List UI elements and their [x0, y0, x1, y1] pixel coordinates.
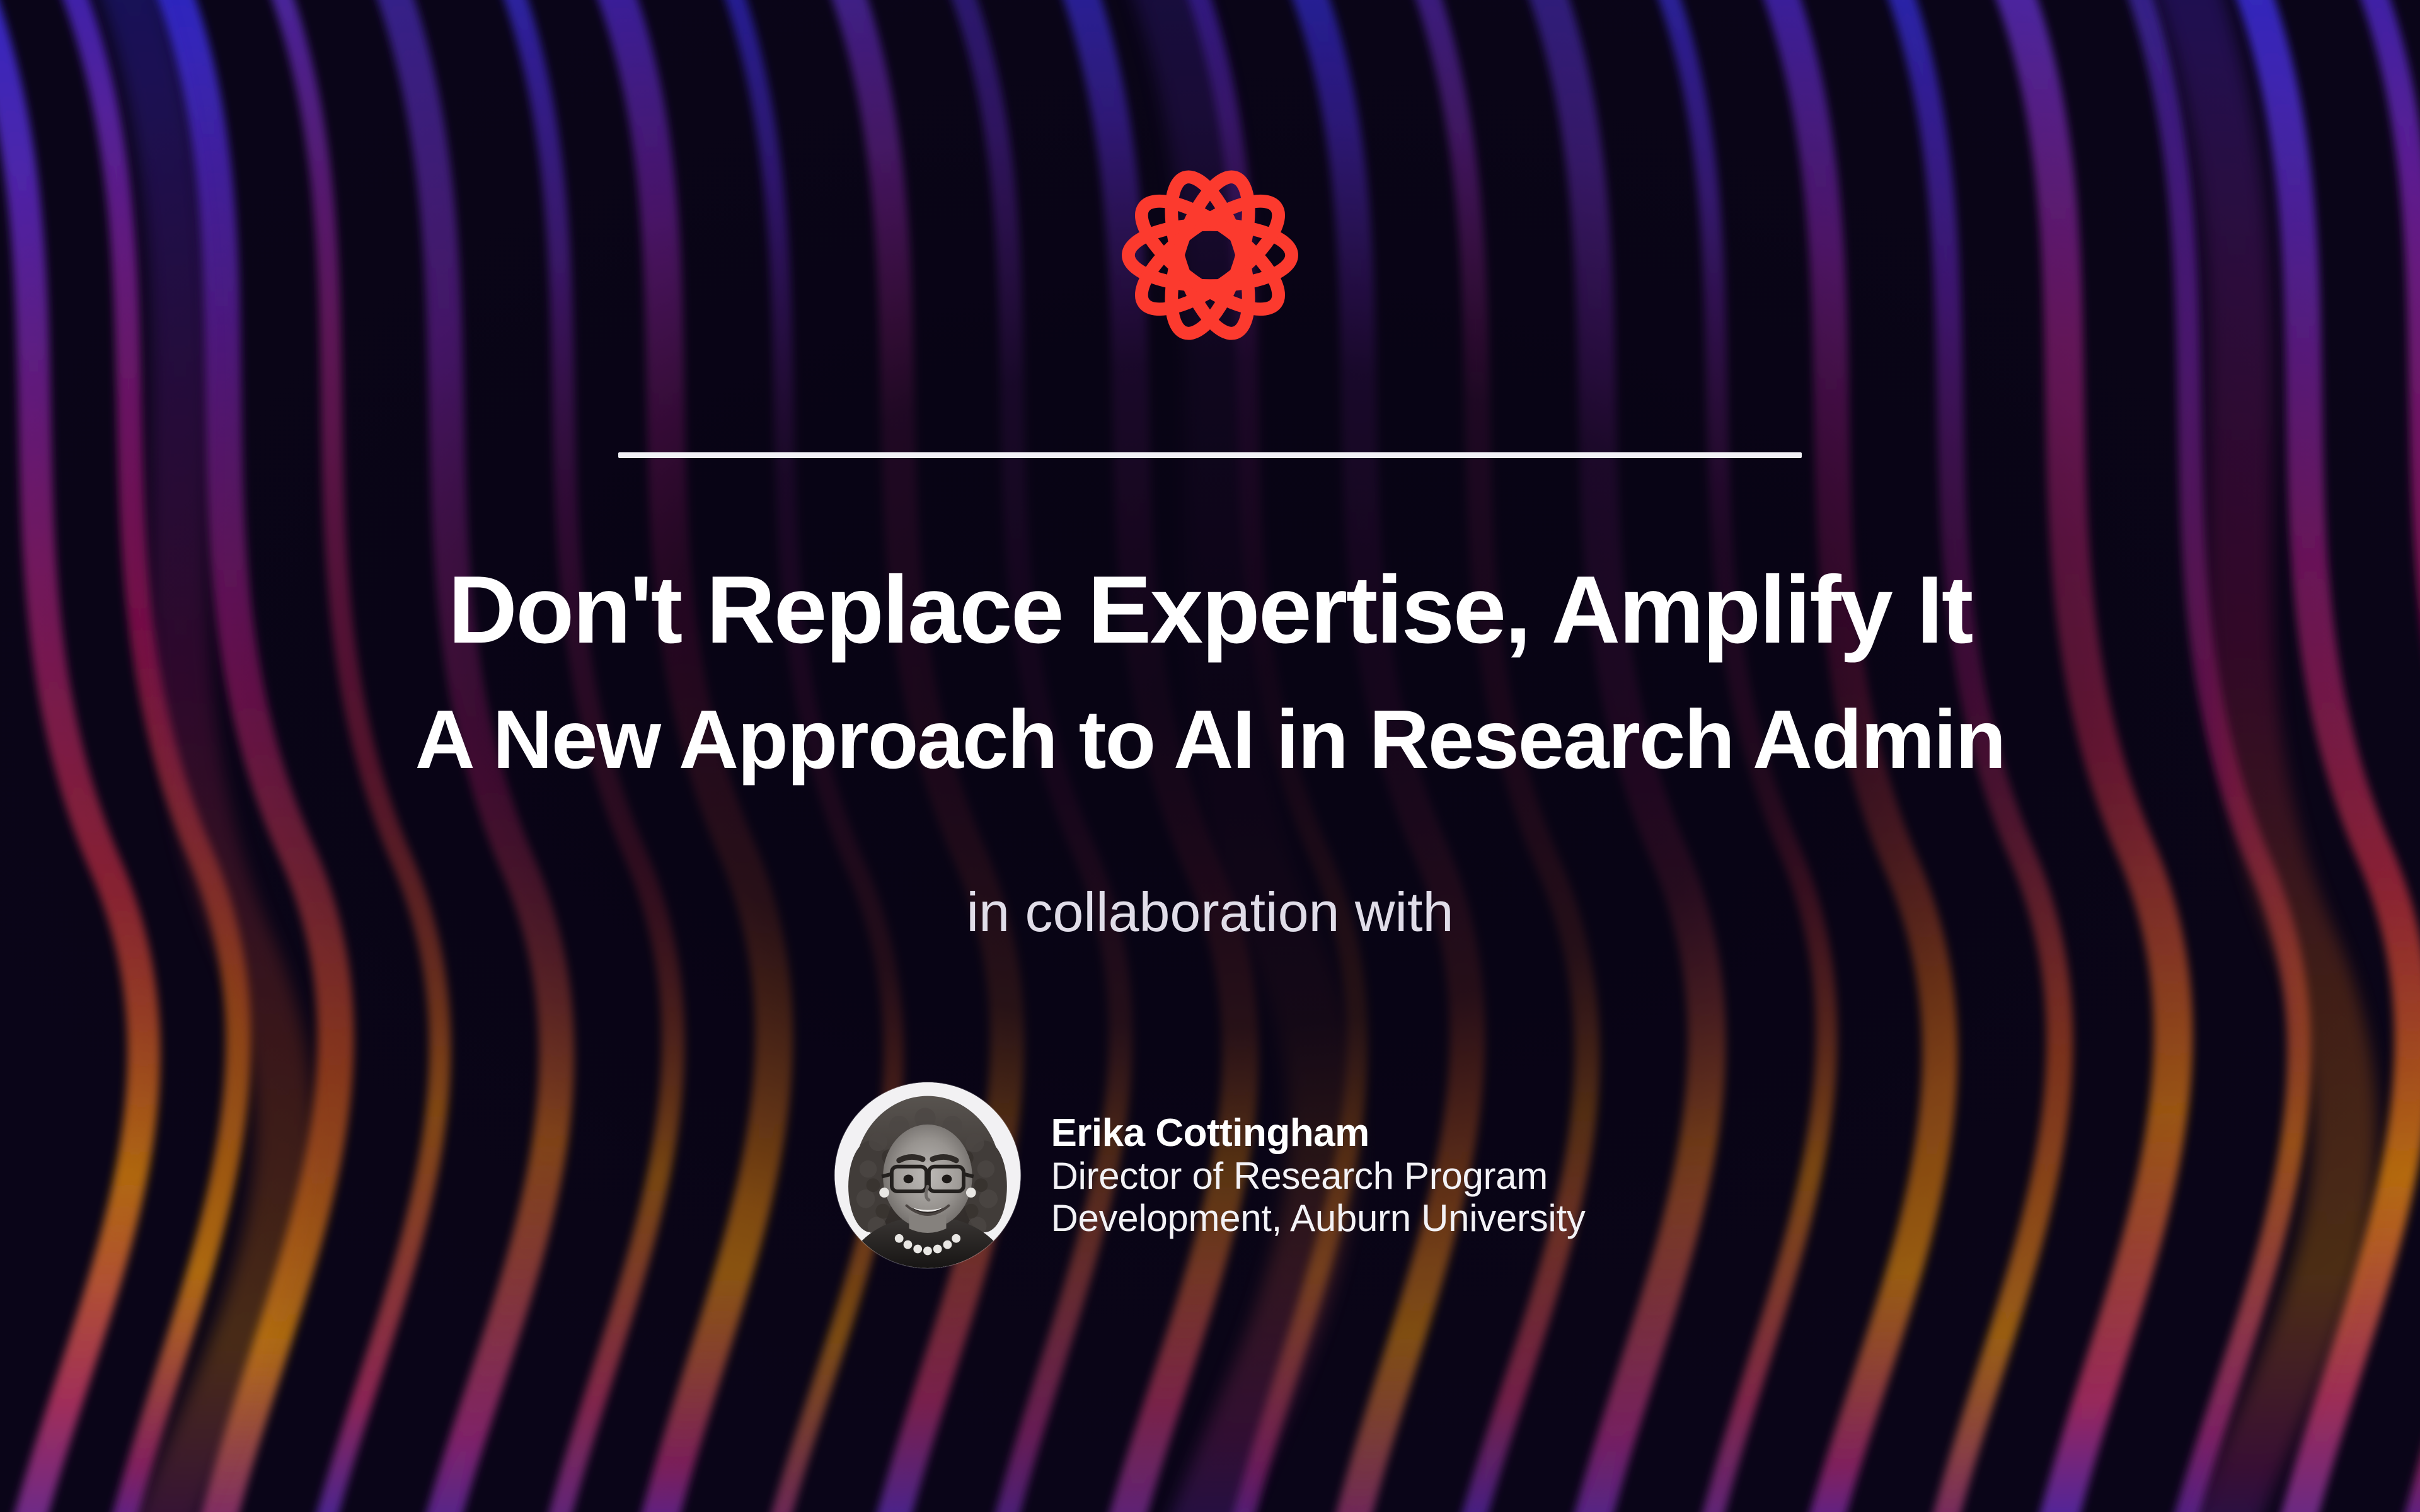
title-divider-rule [618, 452, 1802, 458]
slide-content: Don't Replace Expertise, Amplify It A Ne… [0, 0, 2420, 1512]
speaker-name: Erika Cottingham [1051, 1111, 1585, 1155]
atom-orbit-logo [1097, 142, 1323, 369]
title-slide: Don't Replace Expertise, Amplify It A Ne… [0, 0, 2420, 1512]
speaker-text: Erika Cottingham Director of Research Pr… [1051, 1111, 1585, 1240]
speaker-block: Erika Cottingham Director of Research Pr… [834, 1082, 1585, 1268]
speaker-role-line-1: Director of Research Program [1051, 1155, 1585, 1197]
collaboration-label: in collaboration with [0, 882, 2420, 943]
page-title: Don't Replace Expertise, Amplify It [0, 562, 2420, 658]
avatar [834, 1082, 1020, 1268]
page-subtitle: A New Approach to AI in Research Admin [0, 698, 2420, 781]
speaker-role-line-2: Development, Auburn University [1051, 1197, 1585, 1239]
